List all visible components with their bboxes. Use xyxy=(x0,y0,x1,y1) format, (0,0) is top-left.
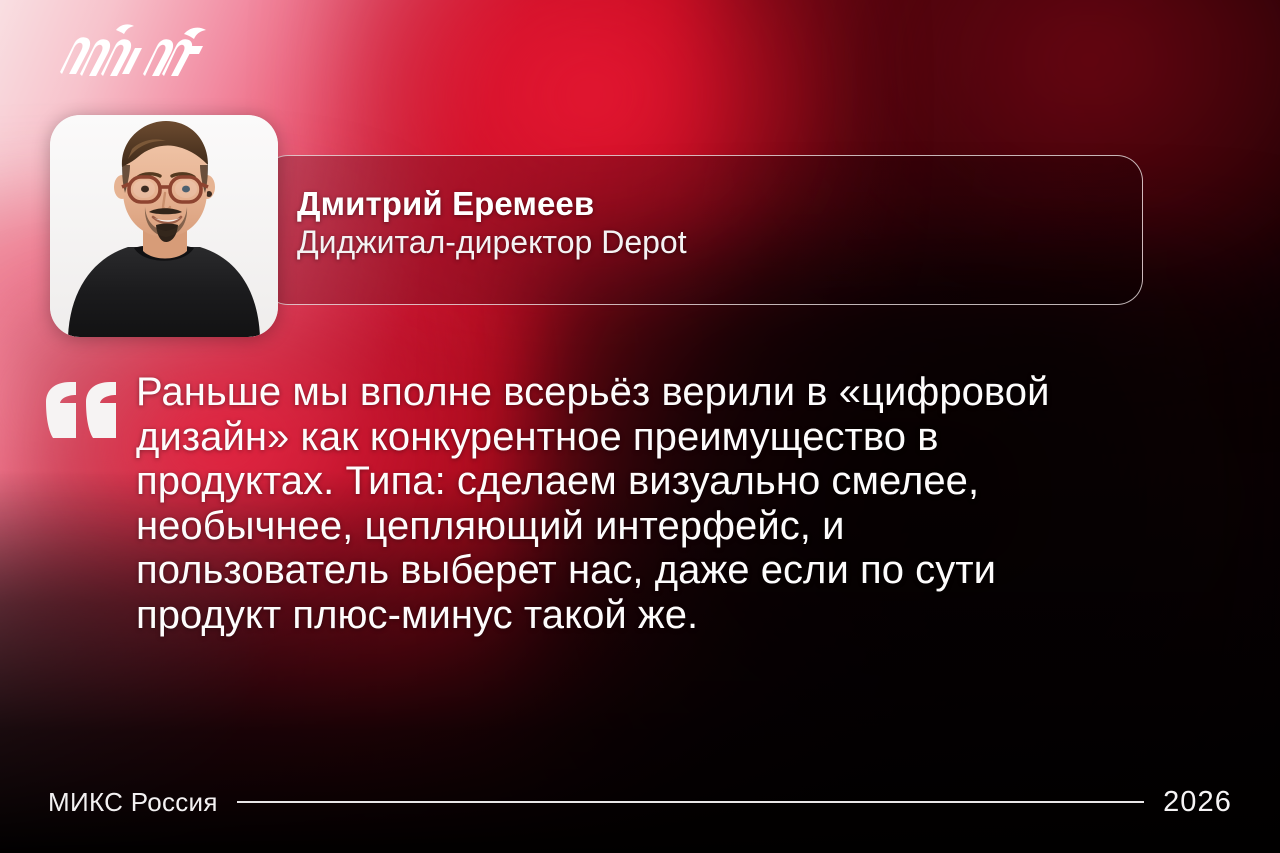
quote-line: пользователь выберет нас, даже если по с… xyxy=(136,548,1236,593)
quote-line: продукт плюс-минус такой же. xyxy=(136,593,1236,638)
speaker-role: Диджитал-директор Depot xyxy=(297,224,1117,261)
footer: МИКС Россия 2026 xyxy=(48,780,1232,824)
footer-divider xyxy=(237,801,1144,802)
speaker-info-text: Дмитрий Еремеев Диджитал-директор Depot xyxy=(297,186,1117,261)
quote-text: Раньше мы вполне всерьёз верили в «цифро… xyxy=(46,370,1236,637)
open-quote-icon xyxy=(46,382,118,438)
footer-year-label: 2026 xyxy=(1163,786,1232,819)
quote-block: Раньше мы вполне всерьёз верили в «цифро… xyxy=(46,370,1236,637)
slide-canvas: Дмитрий Еремеев Диджитал-директор Depot … xyxy=(0,0,1280,853)
mix-wordmark-logo-icon xyxy=(58,20,210,80)
speaker-portrait-photo xyxy=(50,115,278,337)
speaker-name: Дмитрий Еремеев xyxy=(297,186,1117,223)
quote-line: необычнее, цепляющий интерфейс, и xyxy=(136,504,1236,549)
quote-line: Раньше мы вполне всерьёз верили в «цифро… xyxy=(136,370,1236,415)
quote-line: дизайн» как конкурентное преимущество в xyxy=(136,415,1236,460)
footer-brand-label: МИКС Россия xyxy=(48,787,218,818)
quote-line: продуктах. Типа: сделаем визуально смеле… xyxy=(136,459,1236,504)
